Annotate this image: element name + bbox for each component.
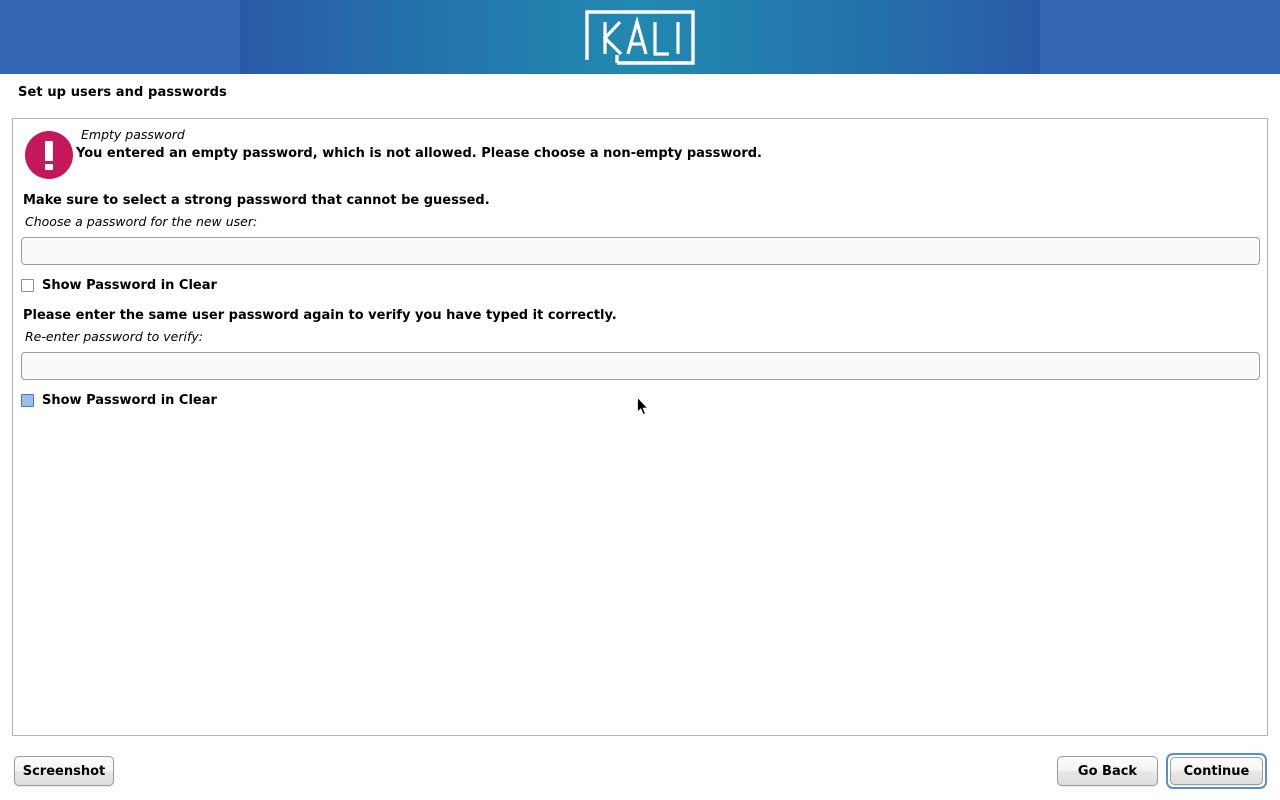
main-content-panel: Empty password You entered an empty pass…	[12, 118, 1268, 736]
continue-button[interactable]: Continue	[1170, 757, 1263, 785]
show-password-label-2: Show Password in Clear	[42, 393, 217, 408]
installer-banner	[0, 0, 1280, 74]
error-title: Empty password	[81, 127, 185, 142]
error-description: You entered an empty password, which is …	[76, 146, 762, 161]
password-input[interactable]	[21, 237, 1260, 265]
show-password-checkbox-1[interactable]	[21, 279, 34, 292]
verify-password-input[interactable]	[21, 352, 1260, 380]
verify-field-label: Re-enter password to verify:	[25, 329, 203, 344]
show-password-checkbox-2[interactable]	[21, 394, 34, 407]
show-password-row-1[interactable]: Show Password in Clear	[21, 276, 217, 294]
page-title: Set up users and passwords	[18, 85, 227, 100]
show-password-label-1: Show Password in Clear	[42, 278, 217, 293]
error-message-block: Empty password You entered an empty pass…	[13, 119, 1267, 191]
verify-password-heading: Please enter the same user password agai…	[23, 308, 617, 323]
show-password-row-2[interactable]: Show Password in Clear	[21, 391, 217, 409]
screenshot-button[interactable]: Screenshot	[14, 756, 114, 786]
go-back-button[interactable]: Go Back	[1057, 756, 1158, 786]
password-strength-heading: Make sure to select a strong password th…	[23, 193, 490, 208]
password-field-label: Choose a password for the new user:	[25, 214, 257, 229]
kali-logo-icon	[583, 8, 697, 67]
error-exclamation-icon	[24, 130, 74, 180]
